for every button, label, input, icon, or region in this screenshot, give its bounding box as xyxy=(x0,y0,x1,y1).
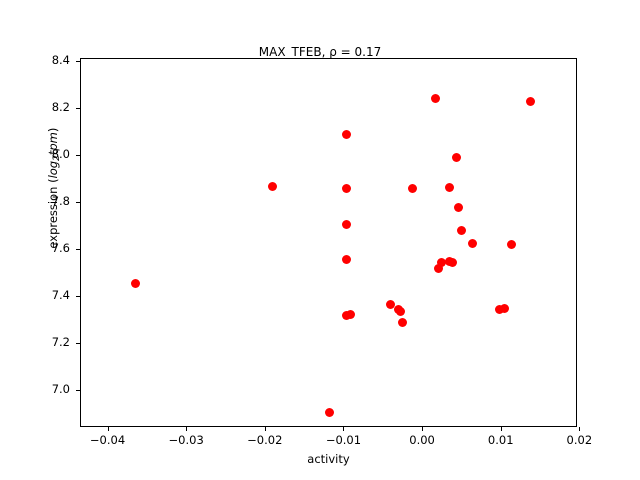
data-point xyxy=(396,307,405,316)
x-axis-tick-label: −0.02 xyxy=(230,433,300,447)
data-point xyxy=(507,240,516,249)
data-point xyxy=(500,304,509,313)
x-axis-label: activity xyxy=(80,452,577,466)
data-point xyxy=(526,97,535,106)
x-axis-tick xyxy=(186,427,187,431)
y-axis-tick xyxy=(76,390,80,391)
data-point xyxy=(342,255,351,264)
data-point xyxy=(452,153,461,162)
y-axis-tick xyxy=(76,61,80,62)
y-axis-tick-label: 7.0 xyxy=(0,382,70,396)
scatter-plot-figure: MAX_TFEB, ρ = 0.17 hg19_v2_chr6_-_417039… xyxy=(0,0,640,480)
y-axis-tick xyxy=(76,343,80,344)
y-axis-label-log: log xyxy=(46,161,60,179)
data-point xyxy=(131,279,140,288)
y-axis-tick xyxy=(76,108,80,109)
y-axis-tick xyxy=(76,249,80,250)
y-axis-tick xyxy=(76,155,80,156)
data-point xyxy=(342,184,351,193)
x-axis-tick-label: 0.01 xyxy=(466,433,536,447)
data-point xyxy=(454,203,463,212)
x-axis-tick-label: −0.04 xyxy=(73,433,143,447)
x-axis-tick xyxy=(579,427,580,431)
data-point xyxy=(431,94,440,103)
data-point xyxy=(342,130,351,139)
data-point xyxy=(325,408,334,417)
x-axis-tick-label: −0.03 xyxy=(151,433,221,447)
plot-data-area xyxy=(81,59,576,426)
x-axis-tick xyxy=(265,427,266,431)
x-axis-tick xyxy=(108,427,109,431)
x-axis-tick-label: −0.01 xyxy=(308,433,378,447)
x-axis-tick-label: 0.02 xyxy=(544,433,614,447)
y-axis-label: expression (log2tpm) xyxy=(46,48,62,328)
data-point xyxy=(468,239,477,248)
x-axis-tick xyxy=(422,427,423,431)
y-axis-label-suffix: ) xyxy=(46,128,60,133)
data-point xyxy=(408,184,417,193)
y-axis-label-subscript: 2 xyxy=(52,155,62,161)
data-point xyxy=(448,258,457,267)
x-axis-tick xyxy=(501,427,502,431)
data-point xyxy=(445,183,454,192)
data-point xyxy=(457,226,466,235)
y-axis-tick xyxy=(76,202,80,203)
y-axis-tick xyxy=(76,296,80,297)
y-axis-label-prefix: expression ( xyxy=(46,178,60,248)
x-axis-tick xyxy=(343,427,344,431)
data-point xyxy=(398,318,407,327)
x-axis-tick-label: 0.00 xyxy=(387,433,457,447)
data-point xyxy=(346,310,355,319)
plot-axes-frame xyxy=(80,58,577,427)
data-point xyxy=(342,220,351,229)
y-axis-tick-label: 7.2 xyxy=(0,335,70,349)
data-point xyxy=(437,258,446,267)
data-point xyxy=(268,182,277,191)
y-axis-label-tpm: tpm xyxy=(46,132,60,155)
